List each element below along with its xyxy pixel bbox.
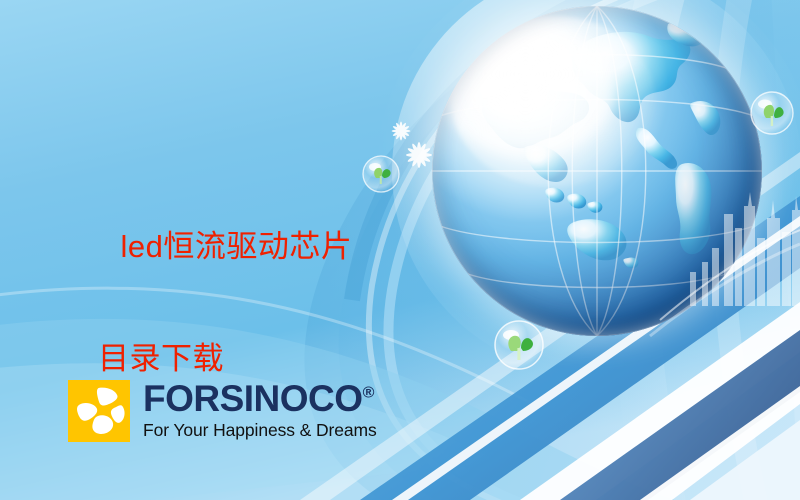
logo-tagline: For Your Happiness & Dreams (143, 419, 377, 441)
registered-trademark-icon: ® (363, 385, 375, 402)
headline-line-1: led恒流驱动芯片 (120, 229, 352, 264)
headline-text: led恒流驱动芯片 目录下载 (84, 163, 414, 499)
company-logo[interactable]: FORSINOCO® For Your Happiness & Dreams (68, 380, 377, 442)
promo-banner: led恒流驱动芯片 目录下载 FORSINOCO® For Your Happi… (0, 0, 800, 500)
logo-brand-name: FORSINOCO® (143, 380, 377, 418)
four-petal-pinwheel-icon (68, 380, 130, 442)
logo-brand-word: FORSINOCO (143, 378, 363, 419)
